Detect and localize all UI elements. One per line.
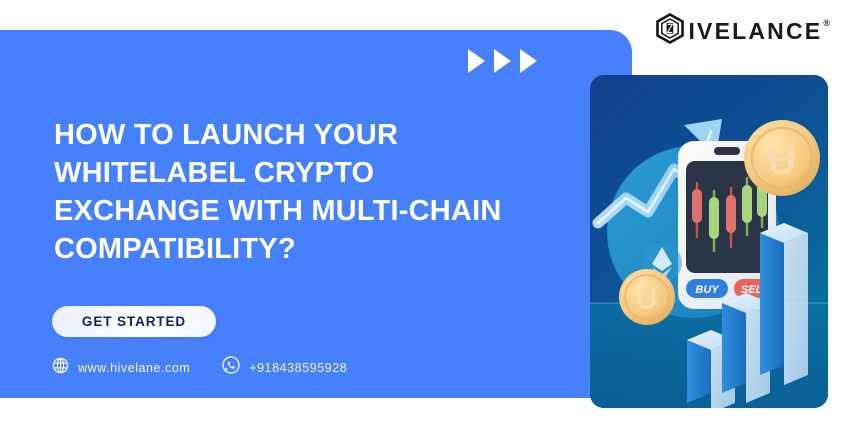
- get-started-button[interactable]: GET STARTED: [52, 306, 216, 337]
- website-link[interactable]: www.hivelane.com: [78, 361, 190, 375]
- headline-line-1: HOW TO LAUNCH YOUR: [54, 116, 554, 154]
- triple-chevron-right-icon: [468, 49, 537, 73]
- chevron-right-icon-2: [494, 49, 511, 73]
- promo-banner: IVELANCE ® HOW TO LAUNCH YOUR WHITELABEL…: [0, 0, 850, 425]
- brand-name: IVELANCE: [688, 20, 822, 43]
- contact-bar: www.hivelane.com +918438595928: [52, 356, 347, 379]
- chevron-right-icon-1: [468, 49, 485, 73]
- page-title: HOW TO LAUNCH YOUR WHITELABEL CRYPTO EXC…: [54, 116, 554, 268]
- phone-number[interactable]: +918438595928: [249, 361, 347, 375]
- hexagon-logo-icon: [655, 13, 685, 49]
- svg-text:Ʉ: Ʉ: [768, 140, 796, 183]
- globe-icon: [52, 357, 69, 379]
- crypto-trading-3d-illustration: BUY SELL: [590, 75, 828, 408]
- headline-line-2: WHITELABEL CRYPTO: [54, 154, 554, 192]
- chevron-right-icon-3: [520, 49, 537, 73]
- svg-text:Ʉ: Ʉ: [637, 284, 658, 316]
- whatsapp-icon: [222, 356, 240, 379]
- headline-line-4: COMPATIBILITY?: [54, 230, 554, 268]
- headline-line-3: EXCHANGE WITH MULTI-CHAIN: [54, 192, 554, 230]
- brand-logo[interactable]: IVELANCE ®: [655, 14, 830, 48]
- registered-trademark-icon: ®: [823, 18, 830, 28]
- svg-text:BUY: BUY: [695, 284, 720, 296]
